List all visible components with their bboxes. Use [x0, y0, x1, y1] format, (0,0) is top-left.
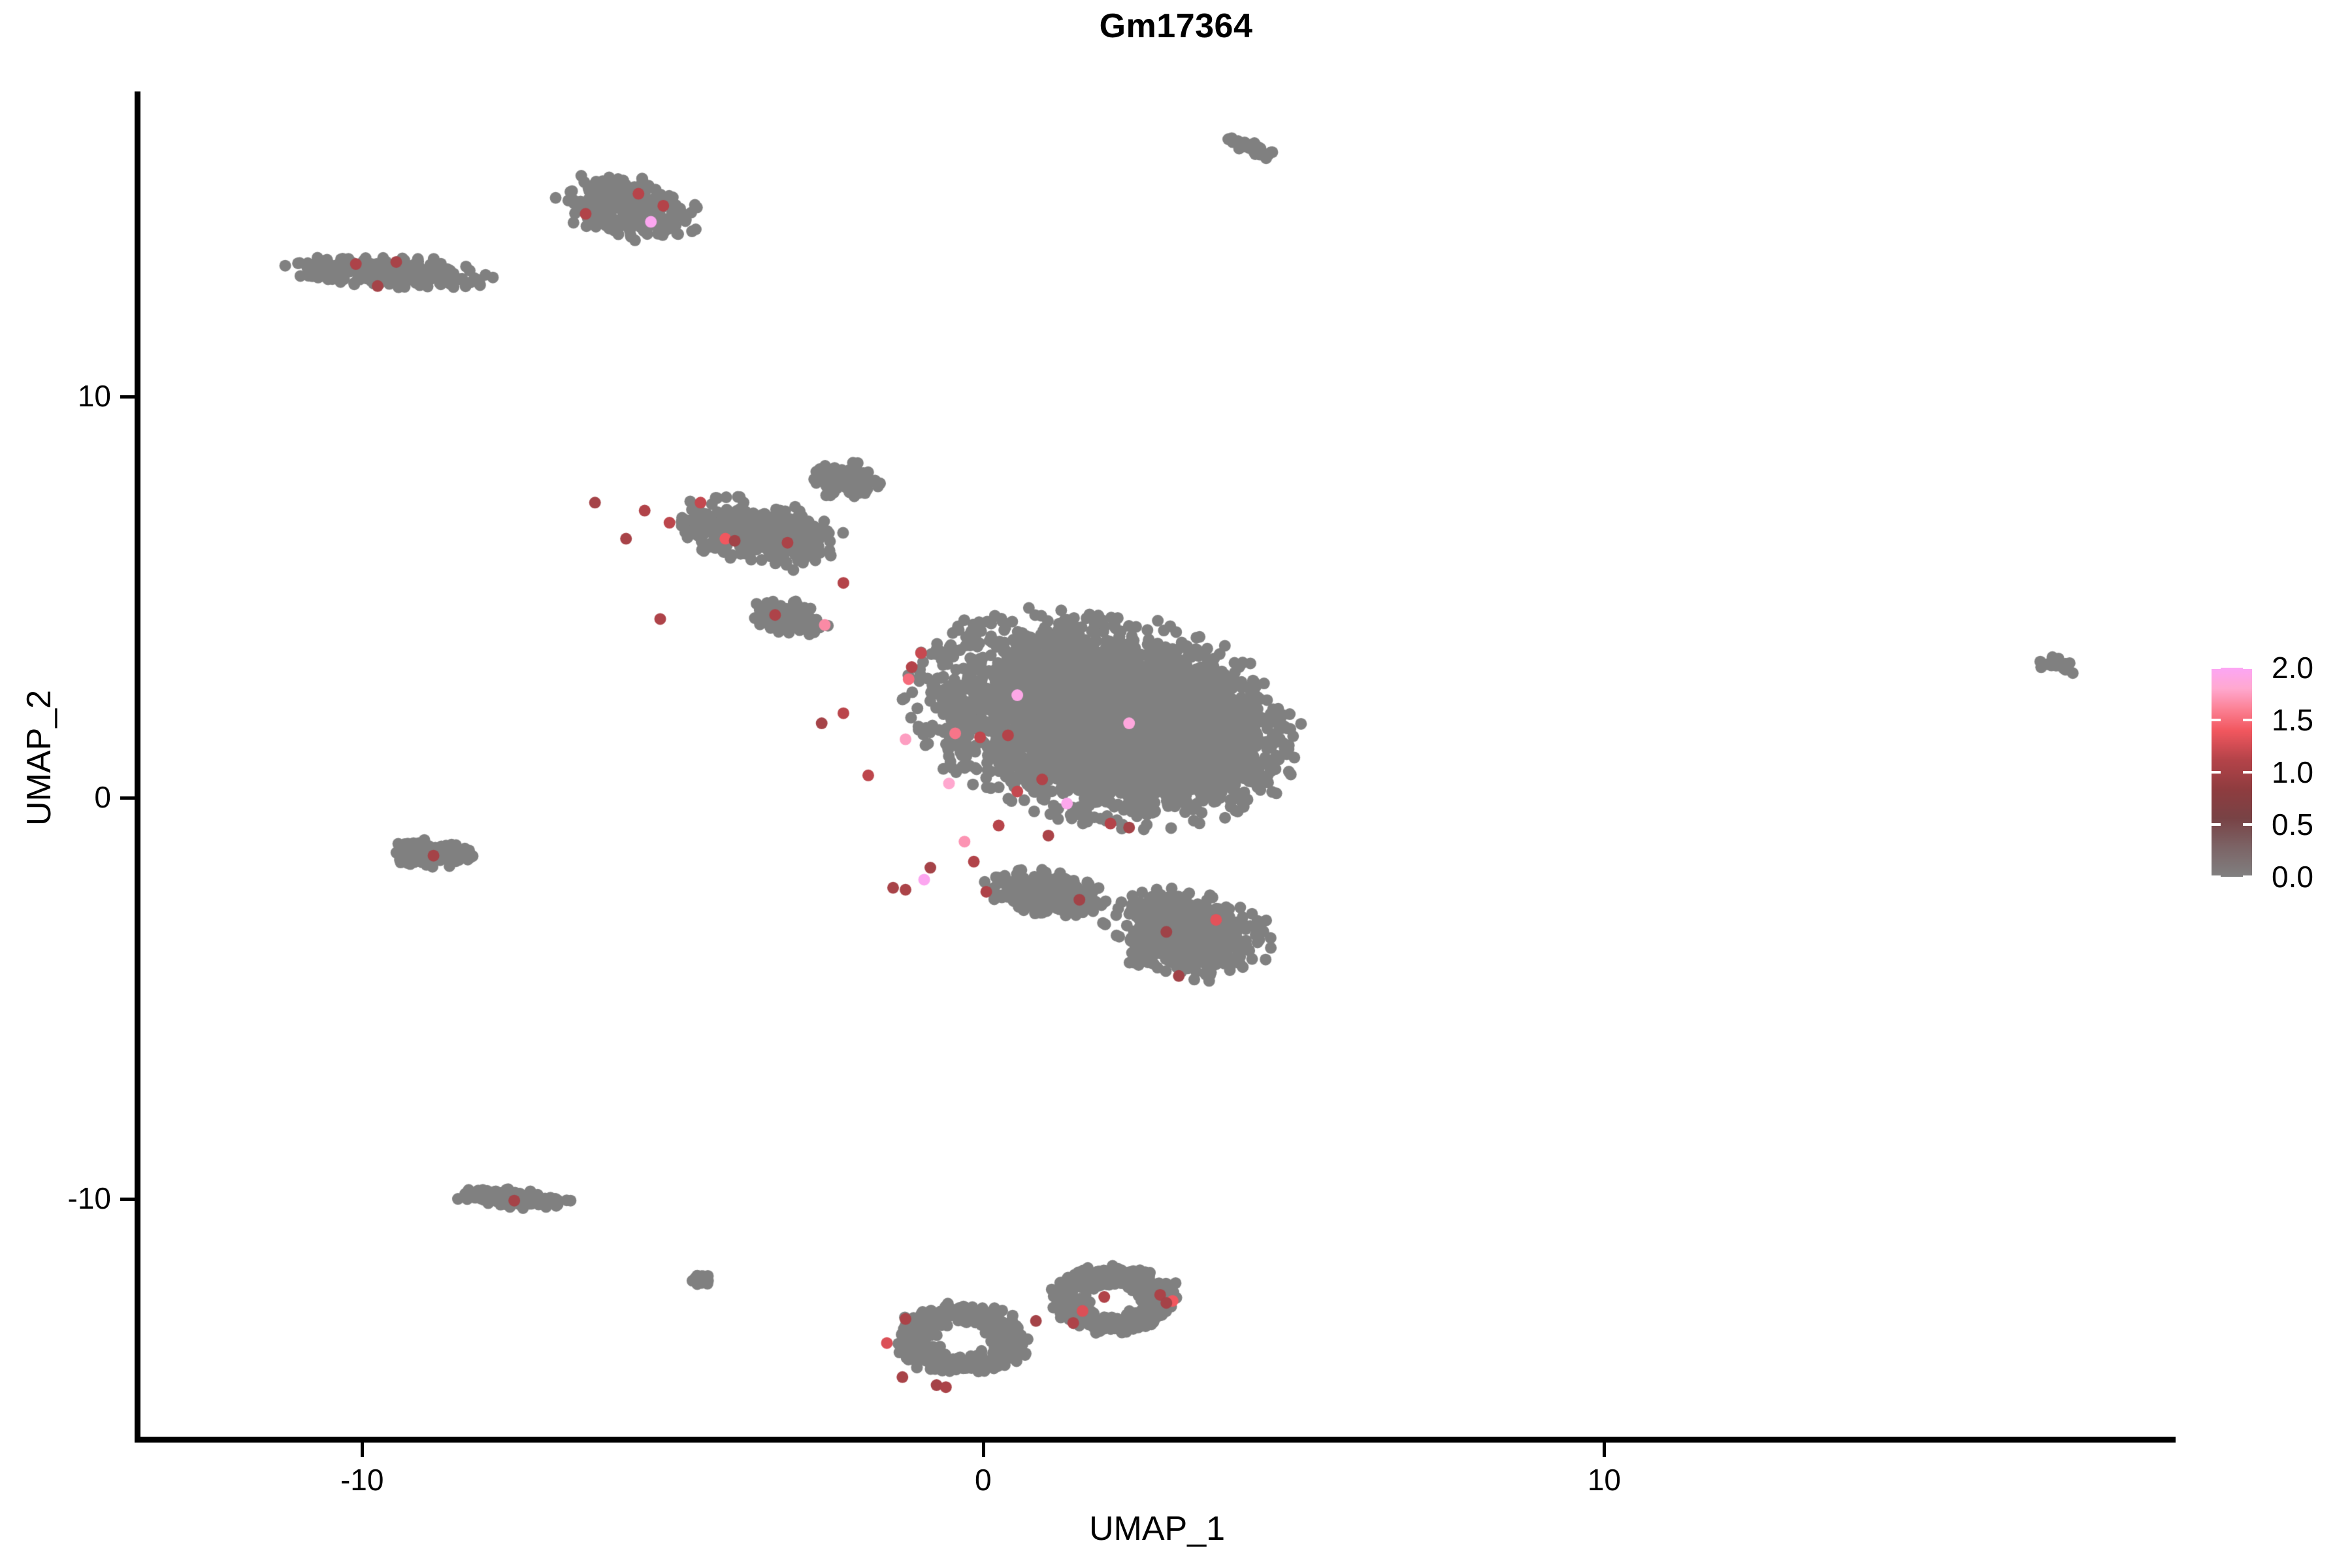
colorbar-tick-label: 1.5: [2272, 702, 2313, 738]
colorbar-tick: [2243, 875, 2252, 878]
page-title: Gm17364: [0, 7, 2352, 46]
figure-root: Gm17364 -10010-10010 UMAP_1 UMAP_2 0.00.…: [0, 0, 2352, 1568]
scatter-plot-panel: [139, 91, 2176, 1439]
colorbar-tick: [2212, 771, 2221, 774]
x-tick-label: 10: [1588, 1462, 1621, 1497]
colorbar-tick: [2212, 666, 2221, 669]
colorbar-tick: [2212, 719, 2221, 721]
colorbar-tick-label: 1.0: [2272, 755, 2313, 790]
colorbar-tick: [2212, 875, 2221, 878]
y-tick-mark: [120, 796, 135, 800]
x-tick-mark: [982, 1443, 985, 1457]
colorbar-tick: [2212, 823, 2221, 826]
colorbar-tick-label: 0.5: [2272, 807, 2313, 842]
y-axis-line: [135, 91, 140, 1443]
y-axis-title: UMAP_2: [20, 431, 59, 1085]
colorbar-tick-label: 0.0: [2272, 859, 2313, 894]
y-tick-mark: [120, 1198, 135, 1201]
colorbar-tick: [2243, 719, 2252, 721]
x-axis-title: UMAP_1: [139, 1509, 2176, 1548]
colorbar-legend: 0.00.51.01.52.0: [2212, 668, 2336, 890]
umap-scatter-canvas: [139, 91, 2176, 1439]
colorbar-tick-label: 2.0: [2272, 650, 2313, 685]
y-tick-mark: [120, 395, 135, 399]
x-axis-line: [135, 1437, 2176, 1443]
colorbar-tick: [2243, 823, 2252, 826]
x-tick-mark: [1603, 1443, 1606, 1457]
x-tick-label: -10: [340, 1462, 384, 1497]
colorbar-tick: [2243, 771, 2252, 774]
x-tick-mark: [361, 1443, 364, 1457]
x-tick-label: 0: [975, 1462, 992, 1497]
colorbar-tick: [2243, 666, 2252, 669]
